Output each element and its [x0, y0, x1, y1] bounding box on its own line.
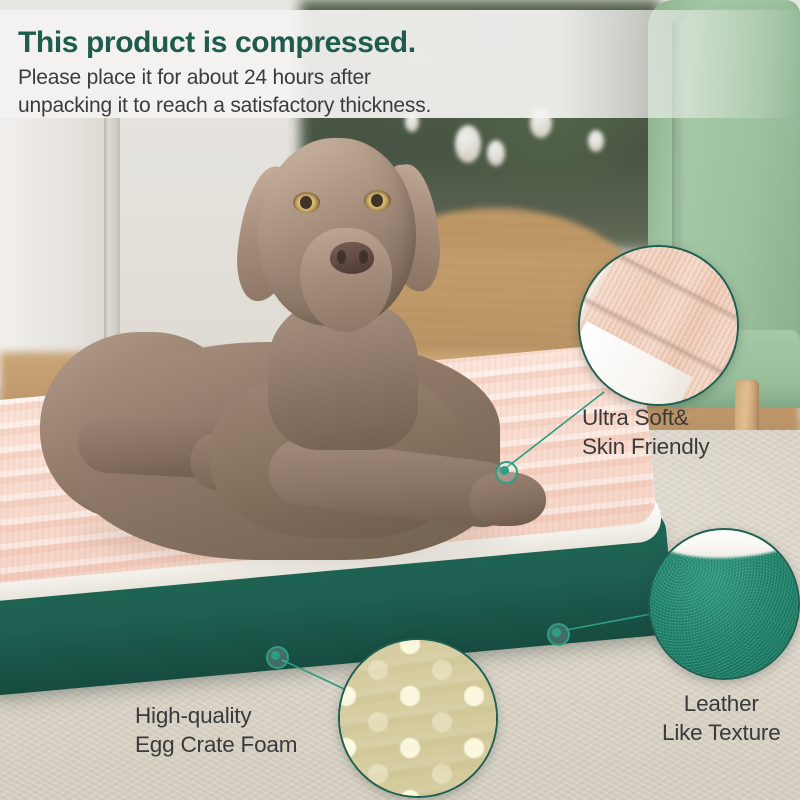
inset-plush-fabric[interactable]: [578, 245, 739, 406]
callout-label-leather-line1: Leather: [662, 690, 781, 719]
connector-line-leather: [566, 612, 662, 630]
notice-banner: This product is compressed. Please place…: [0, 10, 800, 118]
banner-line-2: unpacking it to reach a satisfactory thi…: [18, 94, 431, 118]
callout-label-egg-crate-foam: High-quality Egg Crate Foam: [135, 702, 297, 760]
foam-bump-pattern: [338, 638, 498, 798]
callout-label-ultra-soft-line2: Skin Friendly: [582, 433, 709, 462]
callout-label-leather: Leather Like Texture: [662, 690, 781, 748]
marker-egg-crate-foam-core: [271, 651, 280, 660]
banner-headline: This product is compressed.: [18, 26, 416, 60]
callout-label-leather-line2: Like Texture: [662, 719, 781, 748]
marker-leather-core: [552, 628, 561, 637]
callout-label-ultra-soft: Ultra Soft& Skin Friendly: [582, 404, 709, 462]
product-infographic: Ultra Soft& Skin Friendly High-quality E…: [0, 0, 800, 800]
inset-egg-crate-foam[interactable]: [338, 638, 498, 798]
banner-line-1: Please place it for about 24 hours after: [18, 66, 371, 90]
callout-label-ultra-soft-line1: Ultra Soft&: [582, 404, 709, 433]
marker-ultra-soft-core: [500, 466, 509, 475]
callout-label-egg-crate-foam-line2: Egg Crate Foam: [135, 731, 297, 760]
callout-label-egg-crate-foam-line1: High-quality: [135, 702, 297, 731]
inset-leather-texture[interactable]: [648, 528, 800, 680]
